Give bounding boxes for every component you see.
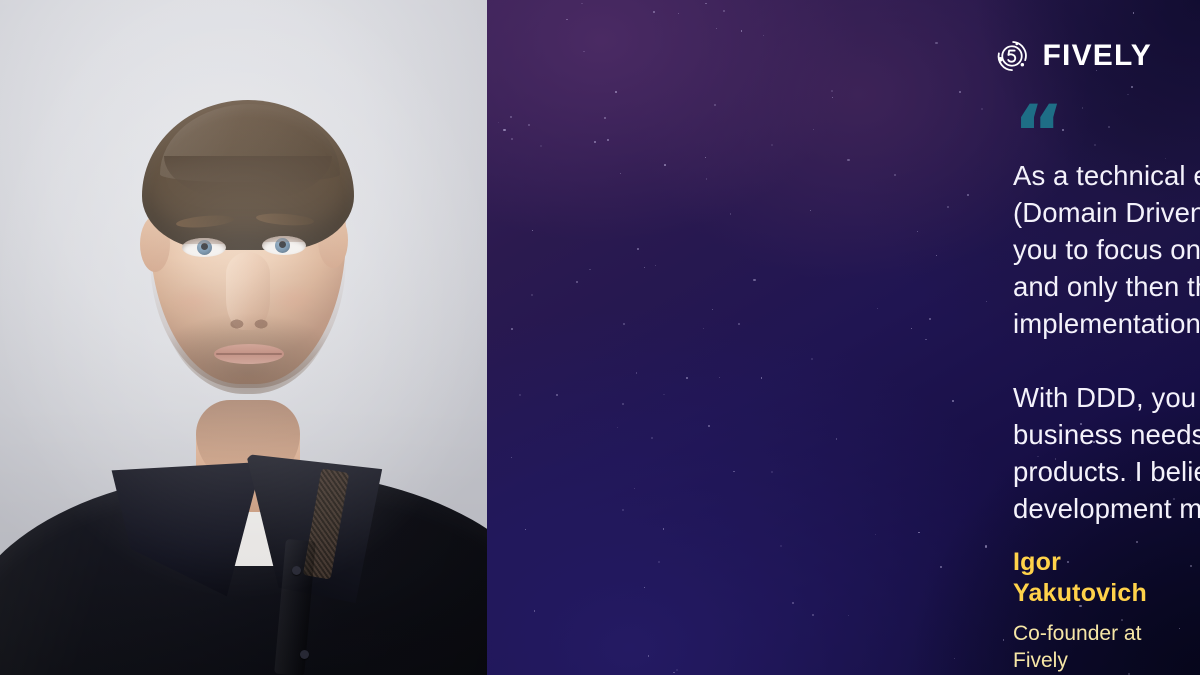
portrait-photo [0,0,487,675]
quote-paragraph: As a technical expert, I truly believe i… [1013,157,1200,342]
testimonial-card: FIVELY “ As a technical expert, I truly … [0,0,1200,675]
author-name: Igor Yakutovich [1013,547,1200,610]
quote-paragraph: With DDD, you can fully cover customers'… [1013,379,1200,527]
quote-text: As a technical expert, I truly believe i… [1013,157,1200,527]
panel-content: FIVELY “ As a technical expert, I truly … [487,0,1200,675]
author-role: Co-founder at Fively [1013,620,1200,675]
fively-circular-5-emblem-icon [994,38,1030,74]
fively-wordmark: FIVELY [1043,41,1152,71]
quote-panel: FIVELY “ As a technical expert, I truly … [487,0,1200,675]
fively-logo[interactable]: FIVELY [994,38,1152,74]
photo-vignette [0,0,487,675]
attribution: Igor Yakutovich Co-founder at Fively [1013,547,1200,674]
